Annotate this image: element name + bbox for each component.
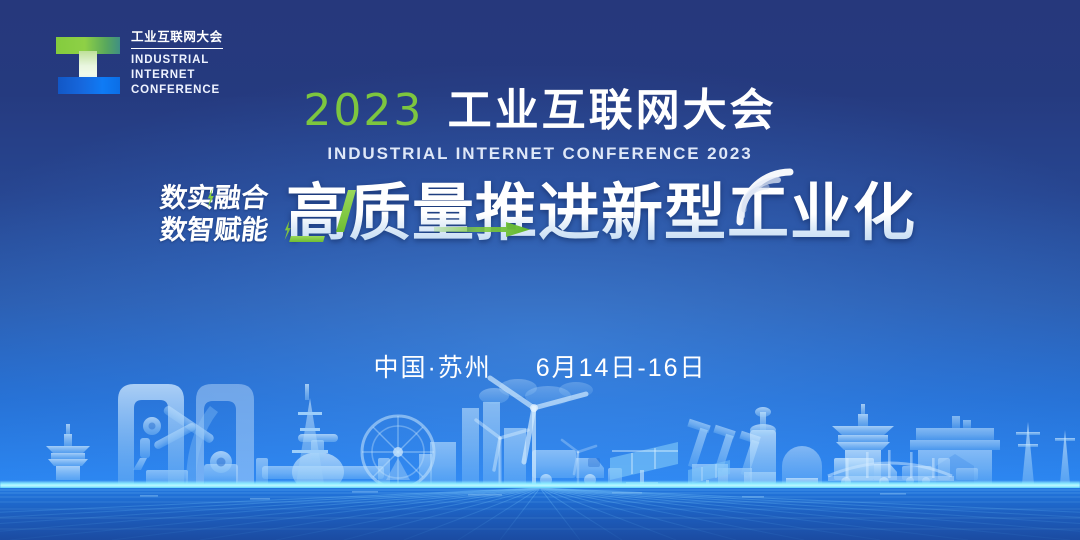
chinese-pagoda-icon [46, 424, 90, 480]
logo-english-line-1: INDUSTRIAL [131, 53, 223, 68]
slogan-line-2-text: 数智赋能 [158, 215, 270, 246]
page-title: 2023 工业互联网大会 [0, 88, 1080, 135]
power-transmission-tower-icon [1016, 422, 1075, 484]
title-chinese: 工业互联网大会 [448, 86, 777, 135]
conference-poster: 工业互联网大会 INDUSTRIAL INTERNET CONFERENCE 2… [0, 0, 1080, 540]
industrial-city-skyline [0, 354, 1080, 484]
logo-chinese-name: 工业互联网大会 [131, 30, 223, 49]
slogan-headline: 高质量推进新型工业化 [282, 176, 920, 249]
wifi-signal-icon [728, 166, 802, 230]
title-year: 2023 [303, 85, 423, 136]
slogan-secondary-lines: 数实融合 数智赋能 [160, 180, 268, 245]
slogan-block: 数实融合 数智赋能 高质量推进新型工业化 [0, 180, 1080, 280]
storage-tank-icon [750, 407, 822, 484]
slogan-line-1: 数实融合 [158, 185, 270, 214]
logo-mark-icon [56, 31, 120, 94]
slogan-line-1-text: 数实融合 [158, 183, 270, 214]
title-block: 2023 工业互联网大会 INDUSTRIAL INTERNET CONFERE… [0, 88, 1080, 164]
title-subtitle: INDUSTRIAL INTERNET CONFERENCE 2023 [0, 144, 1080, 164]
logo-english-line-2: INTERNET [131, 68, 223, 83]
robot-arm-icon [133, 404, 238, 484]
perspective-grid-floor [0, 488, 1080, 540]
slogan-line-2: 数智赋能 [158, 217, 270, 246]
solar-panel-icon [610, 442, 730, 484]
